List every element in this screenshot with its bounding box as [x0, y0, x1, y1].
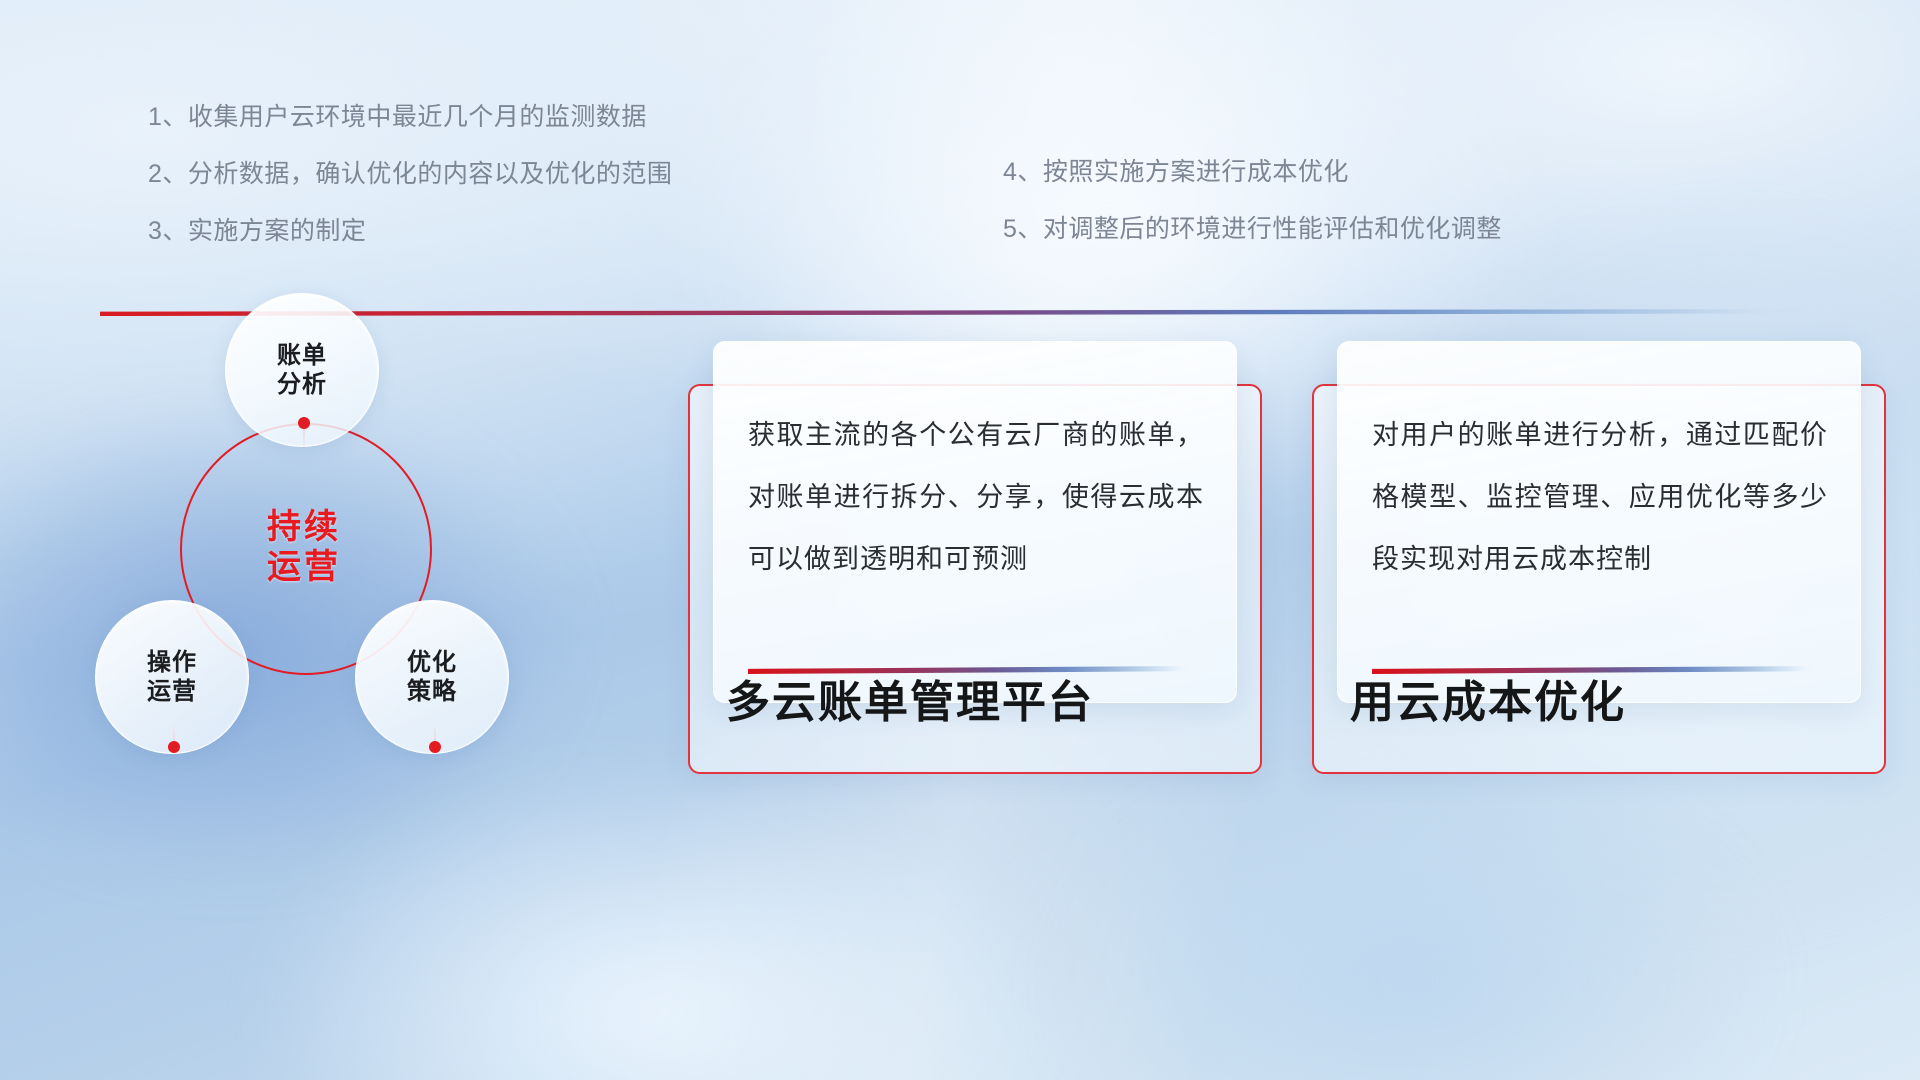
- connector-dot-right: [429, 741, 441, 753]
- step-item-1: 1、收集用户云环境中最近几个月的监测数据: [148, 97, 672, 133]
- slide-canvas: 1、收集用户云环境中最近几个月的监测数据 2、分析数据，确认优化的内容以及优化的…: [0, 0, 1920, 1080]
- card-title: 用云成本优化: [1350, 666, 1626, 730]
- venn-diagram: 账单 分析 操作 运营 优化 策略 持续 运营: [90, 345, 610, 845]
- venn-bubble-label-line2: 分析: [277, 370, 327, 399]
- card-cloud-cost-optimization[interactable]: 对用户的账单进行分析，通过匹配价格模型、监控管理、应用优化等多少段实现对用云成本…: [1312, 384, 1886, 774]
- step-list-right: 4、按照实施方案进行成本优化 5、对调整后的环境进行性能评估和优化调整: [1003, 152, 1502, 266]
- card-body-text: 获取主流的各个公有云厂商的账单，对账单进行拆分、分享，使得云成本可以做到透明和可…: [748, 404, 1204, 590]
- card-inner-panel: 对用户的账单进行分析，通过匹配价格模型、监控管理、应用优化等多少段实现对用云成本…: [1337, 341, 1861, 703]
- venn-bubble-label-line1: 账单: [277, 341, 327, 370]
- venn-bubble-label-line2: 策略: [407, 677, 457, 706]
- venn-bubble-label-line2: 运营: [147, 677, 197, 706]
- step-item-3: 3、实施方案的制定: [148, 211, 672, 247]
- connector-dot-top: [298, 417, 310, 429]
- venn-center-label-line1: 持续: [267, 507, 341, 547]
- venn-center-label-line2: 运营: [267, 547, 341, 587]
- card-multi-cloud-billing-platform[interactable]: 获取主流的各个公有云厂商的账单，对账单进行拆分、分享，使得云成本可以做到透明和可…: [688, 384, 1262, 774]
- step-item-2: 2、分析数据，确认优化的内容以及优化的范围: [148, 154, 672, 190]
- step-list-left: 1、收集用户云环境中最近几个月的监测数据 2、分析数据，确认优化的内容以及优化的…: [148, 97, 672, 268]
- card-body-text: 对用户的账单进行分析，通过匹配价格模型、监控管理、应用优化等多少段实现对用云成本…: [1372, 404, 1828, 590]
- connector-dot-left: [168, 741, 180, 753]
- step-item-4: 4、按照实施方案进行成本优化: [1003, 152, 1502, 188]
- venn-center-label: 持续 运营: [180, 423, 428, 671]
- card-title: 多云账单管理平台: [726, 666, 1094, 730]
- card-inner-panel: 获取主流的各个公有云厂商的账单，对账单进行拆分、分享，使得云成本可以做到透明和可…: [713, 341, 1237, 703]
- step-item-5: 5、对调整后的环境进行性能评估和优化调整: [1003, 209, 1502, 245]
